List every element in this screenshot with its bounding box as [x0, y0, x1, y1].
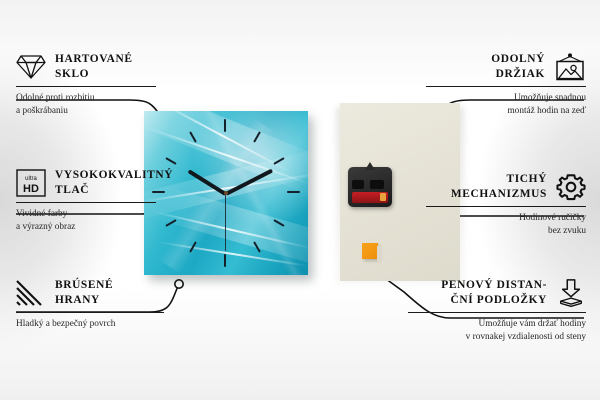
feature-beveled-edges: BRÚSENÉ HRANY Hladký a bezpečný povrch — [16, 278, 164, 331]
feature-desc-line1: Umožňuje vám držať hodiny — [408, 318, 586, 330]
mechanism-slot-right — [370, 180, 384, 189]
divider — [16, 86, 156, 87]
clock-center-pin — [224, 191, 228, 195]
feature-wall-holder: ODOLNÝ DRŽIAK Umožňuje snadnou montáž ho… — [426, 52, 586, 117]
feature-foam-spacers: PENOVÝ DISTAN- ČNÍ PODLOŽKY Umožňuje vám… — [408, 278, 586, 343]
feature-hd-print: ultra HD VYSOKOKVALITNÝ TLAČ Vividné far… — [16, 168, 156, 233]
divider — [426, 206, 586, 207]
divider — [408, 312, 586, 313]
diamond-icon — [16, 53, 46, 80]
feature-title-line1: TICHÝ — [451, 172, 547, 187]
clock-mechanism — [348, 167, 392, 207]
feature-silent-mechanism: TICHÝ MECHANIZMUS Hodinové ručičky bez z… — [426, 172, 586, 237]
feature-desc-line1: Hodinové ručičky — [426, 212, 586, 224]
feature-desc-line1: Vividné farby — [16, 208, 156, 220]
feature-title-line1: HARTOVANÉ — [55, 52, 133, 67]
feature-title-line2: DRŽIAK — [491, 67, 545, 82]
divider — [426, 86, 586, 87]
feature-title-line1: ODOLNÝ — [491, 52, 545, 67]
endpoint-edges — [175, 280, 183, 288]
foam-spacer-pad — [362, 243, 378, 259]
feature-desc-line2: a výrazný obraz — [16, 221, 156, 233]
feature-desc-line2: bez zvuku — [426, 225, 586, 237]
svg-text:HD: HD — [23, 183, 39, 195]
feature-title-line1: BRÚSENÉ — [55, 278, 113, 293]
feature-title-line2: MECHANIZMUS — [451, 187, 547, 202]
feature-title-line1: VYSOKOKVALITNÝ — [55, 168, 173, 183]
foam-spacer-icon — [556, 279, 586, 307]
divider — [16, 202, 156, 203]
feature-title-line2: TLAČ — [55, 183, 173, 198]
ultra-hd-icon: ultra HD — [16, 169, 46, 197]
wall-hanger-icon — [554, 53, 586, 81]
feature-title-line2: ČNÍ PODLOŽKY — [441, 293, 547, 308]
feature-desc-line2: montáž hodin na zeď — [426, 105, 586, 117]
beveled-edges-icon — [16, 280, 46, 306]
product-photo — [140, 103, 460, 281]
feature-desc-line1: Umožňuje snadnou — [426, 92, 586, 104]
mechanism-slot-left — [352, 180, 364, 189]
feature-title-line2: HRANY — [55, 293, 113, 308]
feature-tempered-glass: HARTOVANÉ SKLO Odolné proti rozbitiu a p… — [16, 52, 156, 117]
svg-text:ultra: ultra — [25, 176, 37, 182]
divider — [16, 312, 164, 313]
battery — [352, 192, 388, 203]
infographic-canvas: HARTOVANÉ SKLO Odolné proti rozbitiu a p… — [0, 0, 600, 400]
battery-terminal — [380, 193, 386, 201]
feature-desc-line2: v rovnakej vzdialenosti od steny — [408, 331, 586, 343]
feature-desc-line1: Odolné proti rozbitiu — [16, 92, 156, 104]
gear-icon — [556, 173, 586, 201]
feature-desc-line1: Hladký a bezpečný povrch — [16, 318, 164, 330]
feature-desc-line2: a poškrábaniu — [16, 105, 156, 117]
feature-title-line2: SKLO — [55, 67, 133, 82]
feature-title-line1: PENOVÝ DISTAN- — [441, 278, 547, 293]
